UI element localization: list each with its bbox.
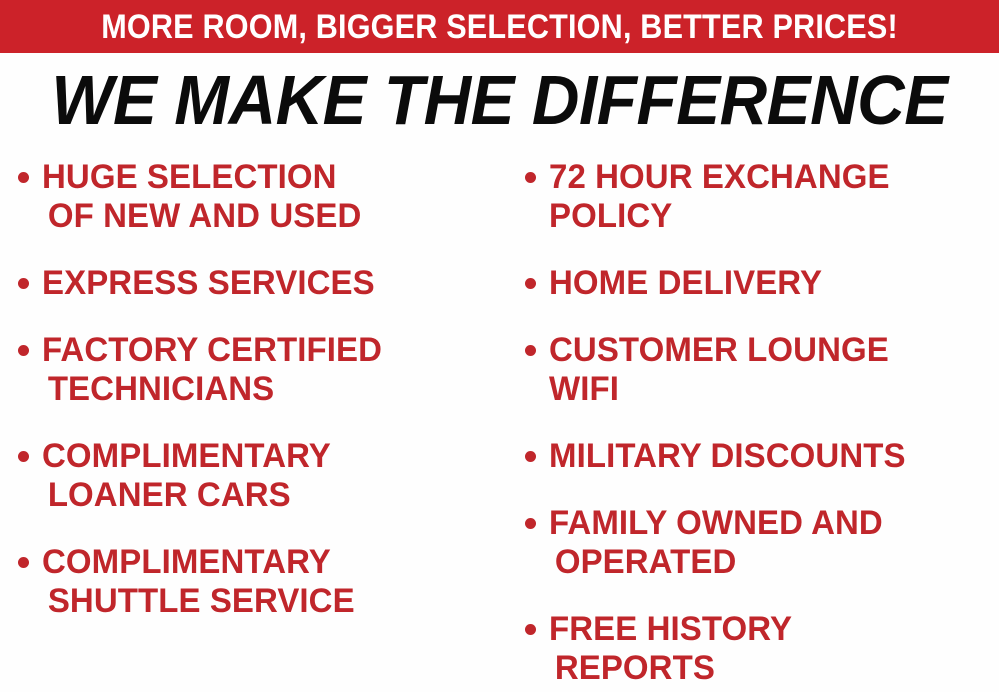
bullet-dot-icon [525, 624, 536, 635]
list-item-label: COMPLIMENTARY LOANER CARS [42, 437, 331, 515]
top-banner-strip: MORE ROOM, BIGGER SELECTION, BETTER PRIC… [0, 0, 999, 53]
bullet-dot-icon [525, 278, 536, 289]
list-item-line: MILITARY DISCOUNTS [549, 437, 906, 476]
list-item: EXPRESS SERVICES [18, 264, 505, 303]
list-item-label: HOME DELIVERY [549, 264, 822, 303]
list-item-label: MILITARY DISCOUNTS [549, 437, 906, 476]
list-item-line: POLICY [549, 197, 890, 236]
list-item-line: CUSTOMER LOUNGE [549, 331, 889, 370]
bullet-dot-icon [18, 345, 29, 356]
list-item: FAMILY OWNED AND OPERATED [525, 504, 999, 582]
bullet-dot-icon [18, 172, 29, 183]
promotional-banner: MORE ROOM, BIGGER SELECTION, BETTER PRIC… [0, 0, 999, 692]
list-item-label: FACTORY CERTIFIED TECHNICIANS [42, 331, 382, 409]
list-item-label: EXPRESS SERVICES [42, 264, 375, 303]
benefits-columns: HUGE SELECTION OF NEW AND USED EXPRESS S… [0, 158, 999, 678]
list-item-line: HUGE SELECTION [42, 158, 361, 197]
bullet-dot-icon [525, 172, 536, 183]
list-item-line: OPERATED [549, 543, 883, 582]
list-item-line: FACTORY CERTIFIED [42, 331, 382, 370]
bullet-dot-icon [525, 451, 536, 462]
benefits-column-right: 72 HOUR EXCHANGE POLICY HOME DELIVERY CU… [505, 158, 999, 692]
bullet-dot-icon [525, 518, 536, 529]
list-item-line: REPORTS [549, 649, 792, 688]
bullet-dot-icon [525, 345, 536, 356]
list-item: COMPLIMENTARY LOANER CARS [18, 437, 505, 515]
list-item: FACTORY CERTIFIED TECHNICIANS [18, 331, 505, 409]
list-item-label: CUSTOMER LOUNGE WIFI [549, 331, 889, 409]
list-item-line: SHUTTLE SERVICE [42, 582, 355, 621]
list-item: MILITARY DISCOUNTS [525, 437, 999, 476]
list-item-line: COMPLIMENTARY [42, 437, 331, 476]
list-item-line: OF NEW AND USED [42, 197, 361, 236]
list-item: HOME DELIVERY [525, 264, 999, 303]
list-item-line: 72 HOUR EXCHANGE [549, 158, 890, 197]
list-item-line: HOME DELIVERY [549, 264, 822, 303]
list-item-line: COMPLIMENTARY [42, 543, 355, 582]
top-banner-text: MORE ROOM, BIGGER SELECTION, BETTER PRIC… [101, 10, 898, 44]
list-item: COMPLIMENTARY SHUTTLE SERVICE [18, 543, 505, 621]
bullet-dot-icon [18, 278, 29, 289]
list-item-line: WIFI [549, 370, 889, 409]
page-title: WE MAKE THE DIFFERENCE [30, 62, 969, 138]
bullet-dot-icon [18, 557, 29, 568]
list-item-label: COMPLIMENTARY SHUTTLE SERVICE [42, 543, 355, 621]
list-item-line: FREE HISTORY [549, 610, 792, 649]
list-item-line: EXPRESS SERVICES [42, 264, 375, 303]
list-item-line: LOANER CARS [42, 476, 331, 515]
list-item: FREE HISTORY REPORTS [525, 610, 999, 688]
list-item-label: FAMILY OWNED AND OPERATED [549, 504, 883, 582]
bullet-dot-icon [18, 451, 29, 462]
list-item-label: 72 HOUR EXCHANGE POLICY [549, 158, 890, 236]
list-item: HUGE SELECTION OF NEW AND USED [18, 158, 505, 236]
list-item: 72 HOUR EXCHANGE POLICY [525, 158, 999, 236]
list-item-label: HUGE SELECTION OF NEW AND USED [42, 158, 361, 236]
list-item-label: FREE HISTORY REPORTS [549, 610, 792, 688]
benefits-column-left: HUGE SELECTION OF NEW AND USED EXPRESS S… [0, 158, 505, 649]
list-item: CUSTOMER LOUNGE WIFI [525, 331, 999, 409]
list-item-line: FAMILY OWNED AND [549, 504, 883, 543]
list-item-line: TECHNICIANS [42, 370, 382, 409]
